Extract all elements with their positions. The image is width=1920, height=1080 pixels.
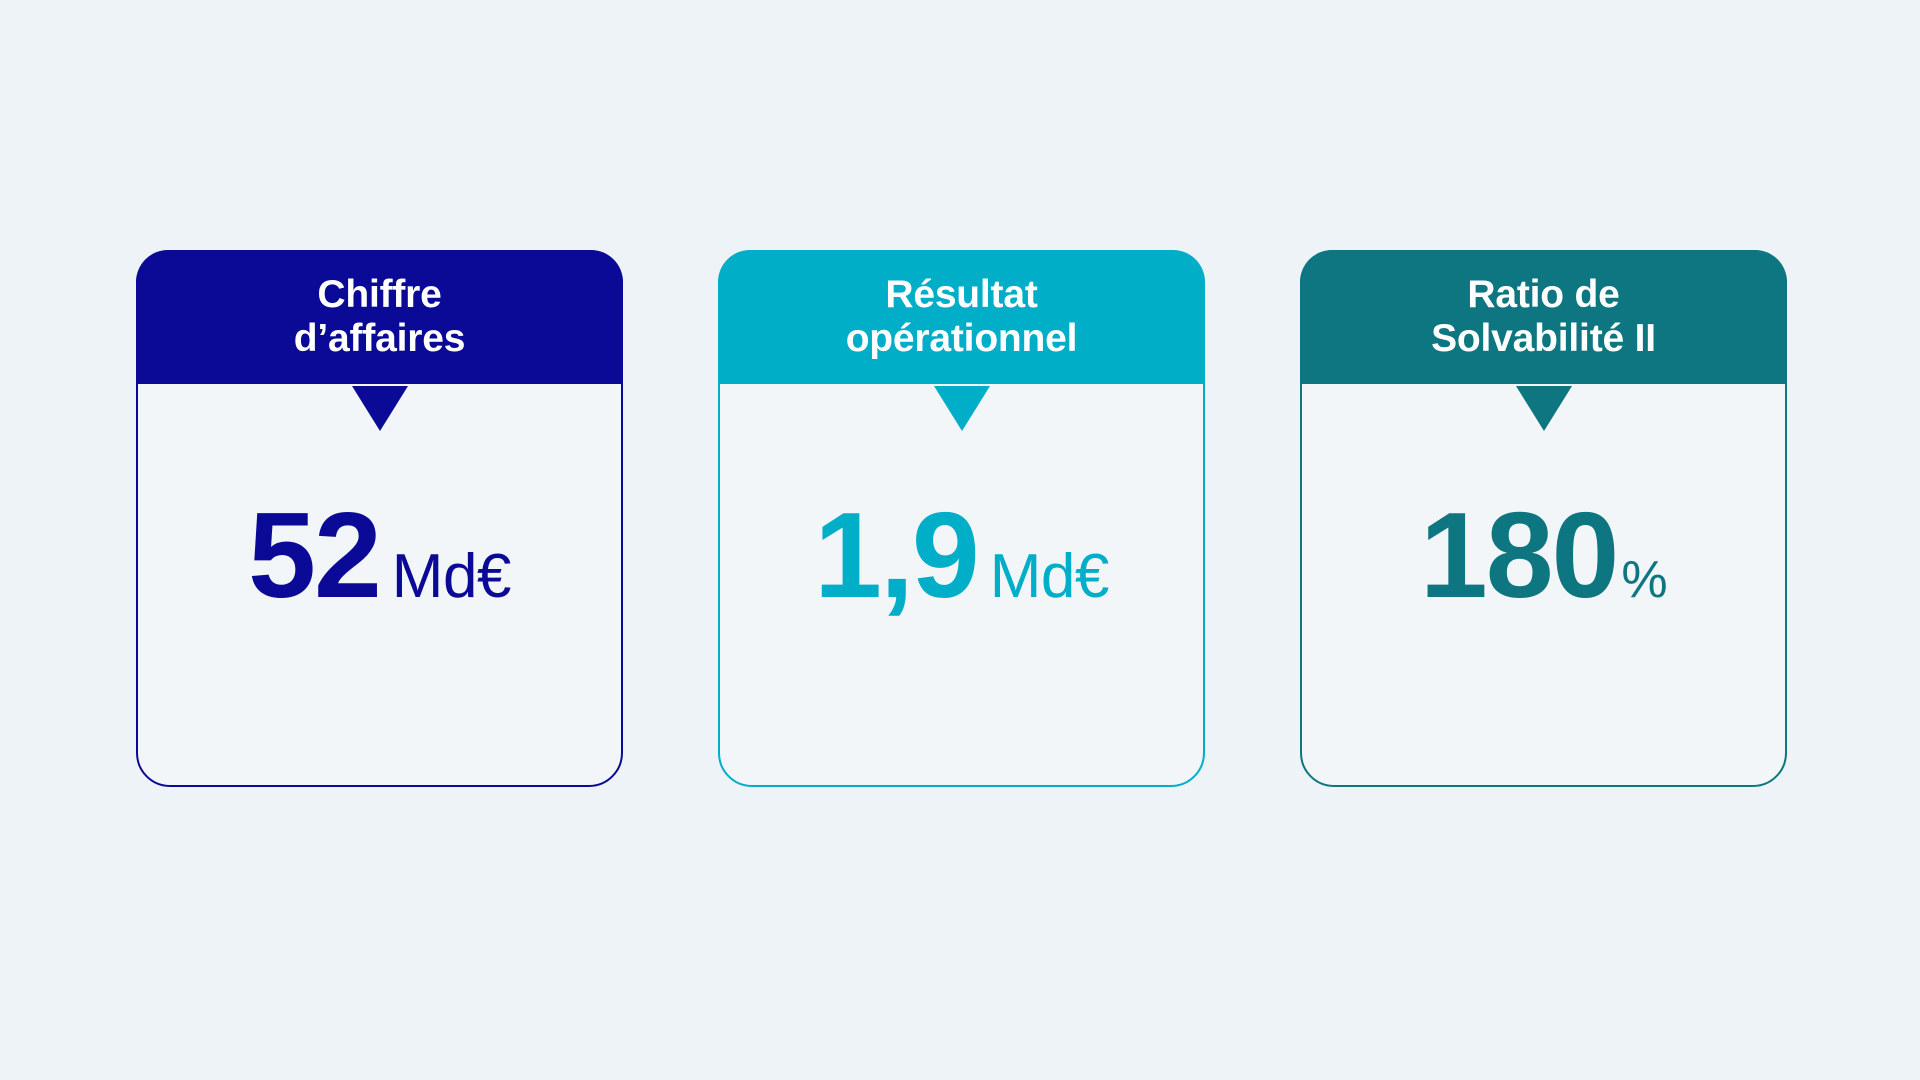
- kpi-card-body: 180 %: [1302, 384, 1785, 785]
- kpi-card-ratio-solvabilite: Ratio de Solvabilité II 180 %: [1300, 250, 1787, 787]
- kpi-card-title: Résultat opérationnel: [846, 273, 1078, 360]
- kpi-value-row: 52 Md€: [248, 498, 511, 614]
- kpi-value-row: 180 %: [1420, 498, 1667, 614]
- kpi-pointer-triangle-icon: [352, 386, 408, 431]
- kpi-value: 52: [248, 498, 380, 614]
- kpi-card-title: Chiffre d’affaires: [294, 273, 465, 360]
- kpi-card-body: 52 Md€: [138, 384, 621, 785]
- kpi-card-group: Chiffre d’affaires 52 Md€ Résultat opéra…: [136, 250, 1787, 787]
- kpi-value: 1,9: [814, 498, 978, 614]
- kpi-pointer-triangle-icon: [934, 386, 990, 431]
- kpi-card-header: Chiffre d’affaires: [136, 250, 623, 384]
- kpi-pointer-triangle-icon: [1516, 386, 1572, 431]
- kpi-unit: Md€: [990, 546, 1109, 608]
- kpi-card-header: Résultat opérationnel: [718, 250, 1205, 384]
- kpi-unit: Md€: [392, 546, 511, 608]
- kpi-card-title: Ratio de Solvabilité II: [1431, 273, 1656, 360]
- kpi-card-body: 1,9 Md€: [720, 384, 1203, 785]
- kpi-card-header: Ratio de Solvabilité II: [1300, 250, 1787, 384]
- kpi-card-chiffre-affaires: Chiffre d’affaires 52 Md€: [136, 250, 623, 787]
- kpi-value-row: 1,9 Md€: [814, 498, 1109, 614]
- kpi-value: 180: [1420, 498, 1618, 614]
- kpi-unit: %: [1621, 554, 1667, 606]
- kpi-card-resultat-operationnel: Résultat opérationnel 1,9 Md€: [718, 250, 1205, 787]
